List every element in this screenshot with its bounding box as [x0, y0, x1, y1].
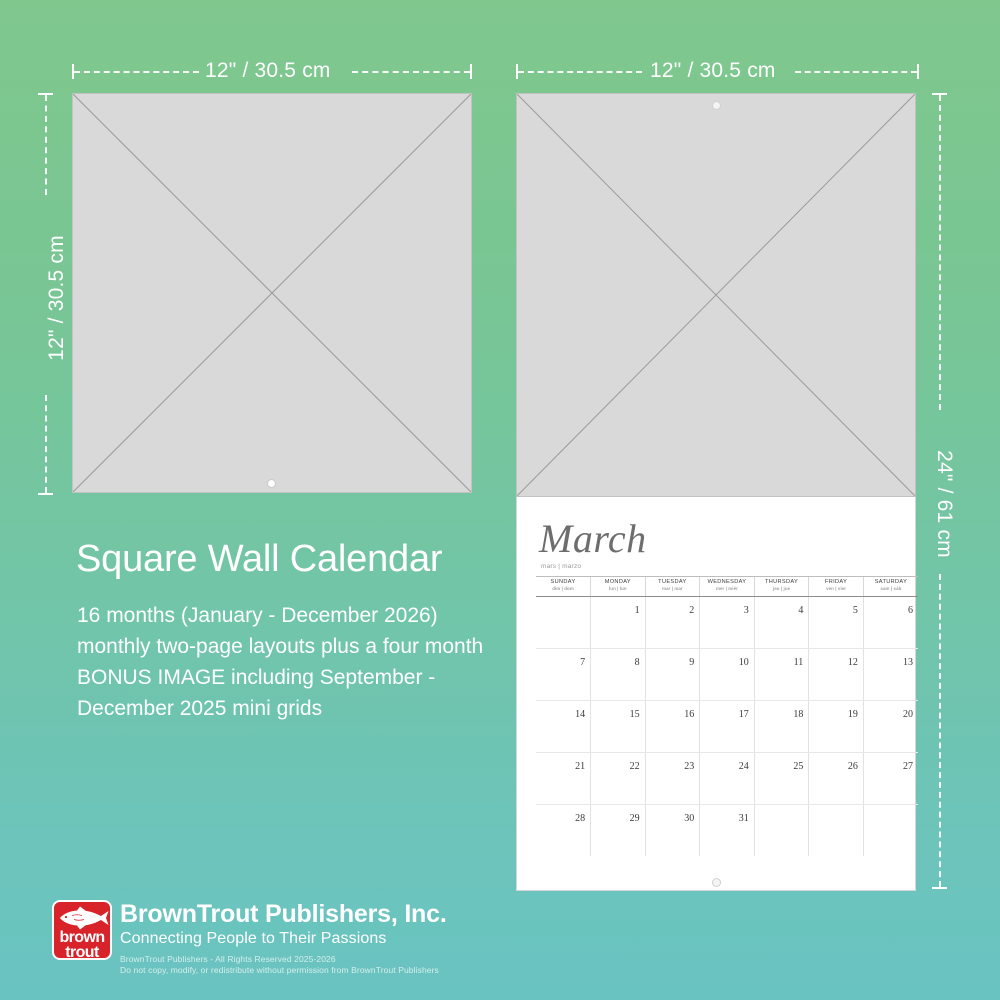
- calendar-day-number: 29: [630, 813, 640, 824]
- dim-label-top-left: 12" / 30.5 cm: [205, 59, 331, 83]
- calendar-day-cell: 19: [809, 700, 864, 752]
- calendar-day-number: 28: [575, 813, 585, 824]
- calendar-day-cell: [809, 804, 864, 856]
- calendar-dow-4: THURSDAY jeu | jue: [754, 577, 809, 596]
- calendar-day-cell: [536, 596, 591, 648]
- hanging-hole-right-panel-top: [712, 101, 721, 110]
- calendar-day-cell: 12: [809, 648, 864, 700]
- browntrout-logo: brown trout: [52, 900, 112, 960]
- product-headline: Square Wall Calendar: [76, 538, 442, 581]
- calendar-day-number: 25: [793, 761, 803, 772]
- calendar-day-number: 26: [848, 761, 858, 772]
- calendar-day-number: 17: [739, 709, 749, 720]
- calendar-day-cell: 10: [700, 648, 755, 700]
- dim-line-top-right-a: [518, 71, 642, 73]
- calendar-day-number: 5: [853, 605, 858, 616]
- calendar-day-number: 22: [630, 761, 640, 772]
- dim-line-top-right-b: [795, 71, 917, 73]
- hanging-hole-left-panel: [267, 479, 276, 488]
- calendar-week-row: 7 8 9 10 11 12 13: [536, 648, 918, 700]
- dim-label-right-vertical: 24" / 61 cm: [932, 424, 956, 584]
- calendar-dow-sublabel: mar | mar: [646, 586, 700, 592]
- trout-fish-icon: [57, 906, 111, 930]
- calendar-dow-sublabel: sam | sáb: [864, 586, 918, 592]
- calendar-day-number: 12: [848, 657, 858, 668]
- calendar-dow-label: WEDNESDAY: [700, 579, 754, 586]
- calendar-dow-1: MONDAY lun | lun: [591, 577, 646, 596]
- calendar-day-cell: 20: [863, 700, 918, 752]
- calendar-day-cell: 26: [809, 752, 864, 804]
- calendar-day-cell: 13: [863, 648, 918, 700]
- calendar-day-cell: 24: [700, 752, 755, 804]
- calendar-week-row: 21 22 23 24 25 26 27: [536, 752, 918, 804]
- calendar-day-cell: 7: [536, 648, 591, 700]
- calendar-day-number: 27: [903, 761, 913, 772]
- dim-line-top-left-a: [74, 71, 199, 73]
- calendar-day-cell: [754, 804, 809, 856]
- calendar-day-number: 3: [744, 605, 749, 616]
- calendar-day-number: 6: [908, 605, 913, 616]
- calendar-day-cell: 30: [645, 804, 700, 856]
- placeholder-cross-lines: [73, 94, 471, 492]
- calendar-day-cell: 29: [591, 804, 646, 856]
- calendar-day-number: 21: [575, 761, 585, 772]
- calendar-week-row: 1 2 3 4 5 6: [536, 596, 918, 648]
- calendar-day-number: 14: [575, 709, 585, 720]
- calendar-dow-sublabel: dim | dom: [536, 586, 590, 592]
- calendar-day-cell: 8: [591, 648, 646, 700]
- calendar-day-number: 7: [580, 657, 585, 668]
- calendar-day-number: 13: [903, 657, 913, 668]
- calendar-dow-label: FRIDAY: [809, 579, 863, 586]
- dim-cap-left-bottom: [38, 493, 53, 495]
- calendar-dow-label: TUESDAY: [646, 579, 700, 586]
- publisher-name: BrownTrout Publishers, Inc.: [120, 900, 447, 929]
- calendar-day-number: 24: [739, 761, 749, 772]
- calendar-day-cell: 15: [591, 700, 646, 752]
- calendar-month-title: March: [539, 519, 647, 559]
- footer-bar: brown trout BrownTrout Publishers, Inc. …: [0, 890, 1000, 1000]
- calendar-day-cell: 16: [645, 700, 700, 752]
- calendar-dow-0: SUNDAY dim | dom: [536, 577, 591, 596]
- calendar-day-cell: 14: [536, 700, 591, 752]
- calendar-day-number: 18: [793, 709, 803, 720]
- calendar-day-cell: 4: [754, 596, 809, 648]
- calendar-day-number: 9: [689, 657, 694, 668]
- calendar-day-number: 8: [635, 657, 640, 668]
- dim-label-top-right: 12" / 30.5 cm: [650, 59, 776, 83]
- dim-line-left-b: [45, 395, 47, 493]
- dim-label-left-vertical: 12" / 30.5 cm: [45, 208, 69, 388]
- calendar-day-number: 20: [903, 709, 913, 720]
- hanging-hole-calendar-bottom: [712, 878, 721, 887]
- calendar-image-panel-right: [516, 93, 916, 497]
- calendar-day-cell: 18: [754, 700, 809, 752]
- calendar-day-cell: 5: [809, 596, 864, 648]
- calendar-day-number: 4: [798, 605, 803, 616]
- calendar-dow-2: TUESDAY mar | mar: [645, 577, 700, 596]
- dim-line-left-a: [45, 95, 47, 195]
- calendar-dow-sublabel: ven | vier: [809, 586, 863, 592]
- calendar-dow-sublabel: lun | lun: [591, 586, 645, 592]
- logo-word-trout: trout: [54, 945, 110, 960]
- calendar-day-cell: 2: [645, 596, 700, 648]
- calendar-dow-sublabel: mer | miér: [700, 586, 754, 592]
- calendar-table: SUNDAY dim | dom MONDAY lun | lun TUESDA…: [536, 577, 918, 856]
- calendar-day-number: 19: [848, 709, 858, 720]
- calendar-day-cell: 6: [863, 596, 918, 648]
- calendar-day-number: 16: [684, 709, 694, 720]
- calendar-day-number: 30: [684, 813, 694, 824]
- dim-line-right-b: [939, 574, 941, 887]
- calendar-day-number: 31: [739, 813, 749, 824]
- calendar-month-subtitle: mars | marzo: [541, 563, 581, 570]
- calendar-day-cell: 3: [700, 596, 755, 648]
- calendar-day-number: 1: [635, 605, 640, 616]
- calendar-image-panel-left: [72, 93, 472, 493]
- calendar-week-row: 14 15 16 17 18 19 20: [536, 700, 918, 752]
- calendar-day-cell: [863, 804, 918, 856]
- calendar-day-cell: 11: [754, 648, 809, 700]
- calendar-grid-page: March mars | marzo SUNDAY dim | dom MOND…: [516, 497, 916, 891]
- calendar-dow-3: WEDNESDAY mer | miér: [700, 577, 755, 596]
- calendar-day-cell: 31: [700, 804, 755, 856]
- calendar-day-cell: 9: [645, 648, 700, 700]
- calendar-day-cell: 25: [754, 752, 809, 804]
- calendar-dow-label: THURSDAY: [755, 579, 809, 586]
- dim-line-top-left-b: [352, 71, 470, 73]
- dim-cap-top-right-end: [917, 64, 919, 79]
- copyright-line-1: BrownTrout Publishers - All Rights Reser…: [120, 954, 336, 964]
- calendar-day-cell: 1: [591, 596, 646, 648]
- calendar-dow-5: FRIDAY ven | vier: [809, 577, 864, 596]
- calendar-grid-wrapper: SUNDAY dim | dom MONDAY lun | lun TUESDA…: [536, 576, 918, 856]
- dim-cap-right-bottom: [932, 887, 947, 889]
- calendar-dow-label: MONDAY: [591, 579, 645, 586]
- calendar-day-number: 10: [739, 657, 749, 668]
- product-description: 16 months (January - December 2026) mont…: [77, 600, 517, 724]
- dim-cap-top-left-end: [470, 64, 472, 79]
- calendar-day-cell: 23: [645, 752, 700, 804]
- calendar-week-row: 28 29 30 31: [536, 804, 918, 856]
- copyright-line-2: Do not copy, modify, or redistribute wit…: [120, 965, 439, 975]
- calendar-day-number: 11: [794, 657, 804, 668]
- placeholder-cross-lines: [517, 94, 915, 496]
- calendar-day-number: 23: [684, 761, 694, 772]
- calendar-dow-6: SATURDAY sam | sáb: [863, 577, 918, 596]
- calendar-dow-sublabel: jeu | jue: [755, 586, 809, 592]
- calendar-dow-label: SATURDAY: [864, 579, 918, 586]
- calendar-day-cell: 27: [863, 752, 918, 804]
- calendar-day-cell: 28: [536, 804, 591, 856]
- calendar-dow-label: SUNDAY: [536, 579, 590, 586]
- calendar-day-cell: 21: [536, 752, 591, 804]
- calendar-day-cell: 22: [591, 752, 646, 804]
- product-preview-canvas: 12" / 30.5 cm 12" / 30.5 cm 12" / 30.5 c…: [0, 0, 1000, 1000]
- dim-line-right-a: [939, 95, 941, 410]
- calendar-day-cell: 17: [700, 700, 755, 752]
- publisher-tagline: Connecting People to Their Passions: [120, 930, 386, 948]
- calendar-day-number: 15: [630, 709, 640, 720]
- calendar-header-row: SUNDAY dim | dom MONDAY lun | lun TUESDA…: [536, 577, 918, 596]
- calendar-day-number: 2: [689, 605, 694, 616]
